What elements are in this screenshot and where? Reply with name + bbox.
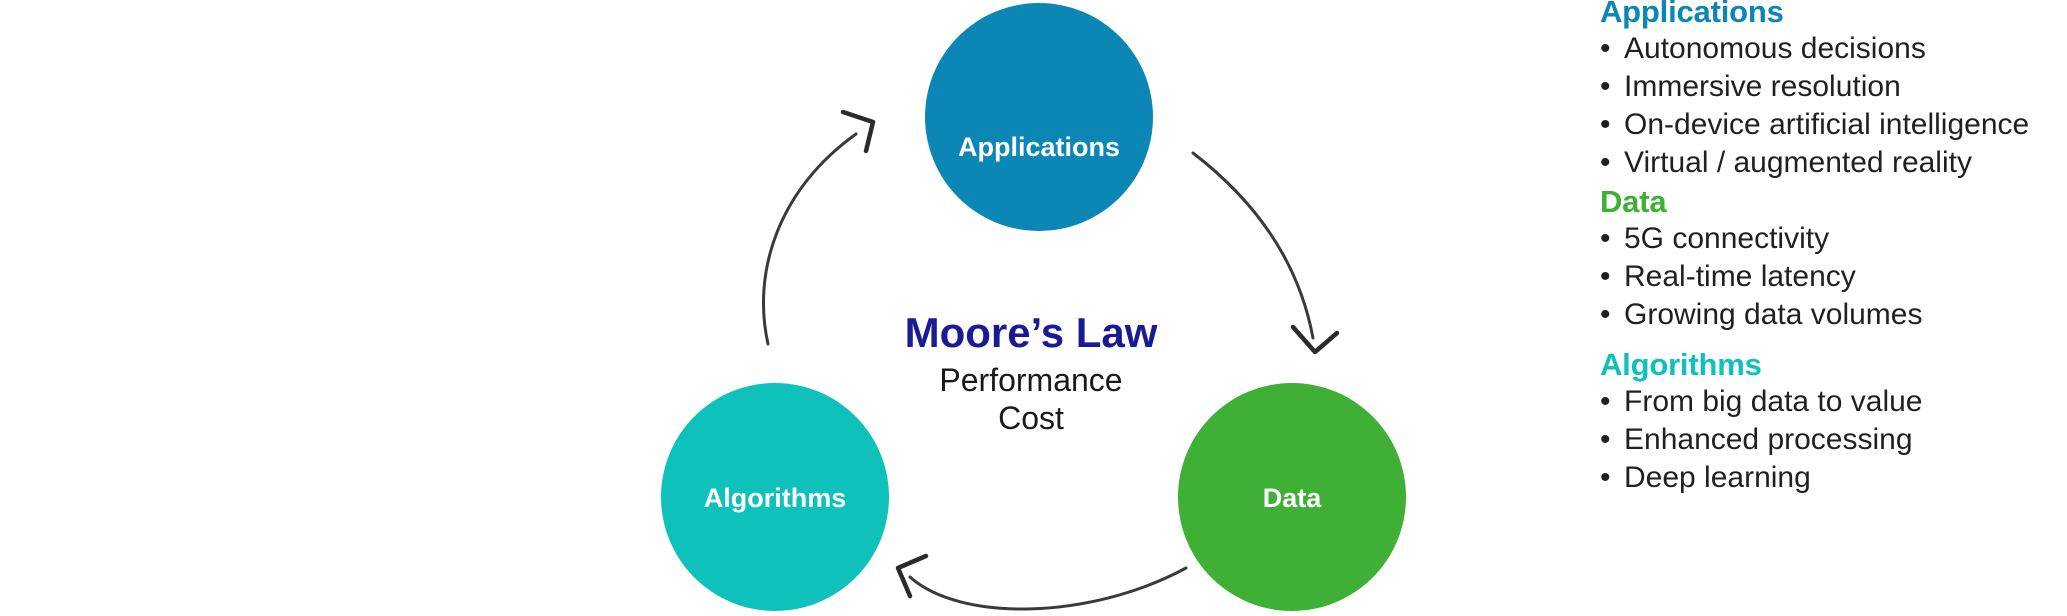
list-item-label: Immersive resolution [1624,70,1901,103]
legend-heading-algorithms: Algorithms [1600,347,2067,383]
list-item: •Growing data volumes [1600,296,2067,334]
list-item: •Autonomous decisions [1600,30,2067,68]
bullet-icon: • [1600,30,1611,68]
bullet-icon: • [1600,459,1611,497]
center-subtitle-line-1: Performance [939,362,1122,398]
node-applications[interactable]: Applications [925,3,1153,231]
node-algorithms-label: Algorithms [704,483,847,513]
bullet-icon: • [1600,258,1611,296]
list-item-label: On-device artificial intelligence [1624,108,2029,141]
node-data-label: Data [1263,483,1323,513]
list-item-label: Real-time latency [1624,260,1856,293]
legend-block-data: Data •5G connectivity •Real-time latency… [1600,184,2067,334]
list-item-label: From big data to value [1624,385,1923,418]
legend-list-algorithms: •From big data to value •Enhanced proces… [1600,383,2067,497]
legend-heading-data: Data [1600,184,2067,220]
bullet-icon: • [1600,106,1611,144]
bullet-icon: • [1600,144,1611,182]
list-item: •Deep learning [1600,459,2067,497]
moores-law-cycle-diagram: Applications Data Algorithms Moore’s Law… [0,0,1600,616]
bullet-icon: • [1600,421,1611,459]
legend-list-data: •5G connectivity •Real-time latency •Gro… [1600,220,2067,334]
legend-panel: Applications •Autonomous decisions •Imme… [1600,0,2067,616]
list-item-label: Autonomous decisions [1624,32,1926,65]
center-caption: Moore’s Law Performance Cost [905,309,1158,436]
bullet-icon: • [1600,383,1611,421]
arrow-arc [1193,153,1313,338]
legend-heading-applications: Applications [1600,0,2067,30]
arrow-arc [763,134,856,344]
diagram-canvas: Applications Data Algorithms Moore’s Law… [0,0,2067,616]
bullet-icon: • [1600,220,1611,258]
list-item-label: Deep learning [1624,461,1811,494]
list-item: •Immersive resolution [1600,68,2067,106]
arrow-head-icon [843,112,873,151]
list-item: •Real-time latency [1600,258,2067,296]
node-applications-label: Applications [958,132,1120,162]
node-data[interactable]: Data [1178,383,1406,611]
node-algorithms[interactable]: Algorithms [661,383,889,611]
center-title: Moore’s Law [905,309,1158,356]
list-item: •On-device artificial intelligence [1600,106,2067,144]
node-applications-circle[interactable] [925,3,1153,231]
list-item: •Virtual / augmented reality [1600,144,2067,182]
list-item-label: Virtual / augmented reality [1624,146,1972,179]
arrow-arc [910,568,1186,609]
arrow-algorithms-to-applications [763,112,873,344]
list-item-label: Enhanced processing [1624,423,1913,456]
list-item: •Enhanced processing [1600,421,2067,459]
bullet-icon: • [1600,296,1611,334]
arrow-head-icon [898,556,926,596]
list-item-label: Growing data volumes [1624,298,1922,331]
arrow-applications-to-data [1193,153,1337,352]
legend-block-applications: Applications •Autonomous decisions •Imme… [1600,0,2067,182]
arrow-data-to-algorithms [898,556,1186,609]
arrow-head-icon [1293,327,1337,352]
list-item-label: 5G connectivity [1624,222,1829,255]
legend-list-applications: •Autonomous decisions •Immersive resolut… [1600,30,2067,182]
list-item: •5G connectivity [1600,220,2067,258]
list-item: •From big data to value [1600,383,2067,421]
bullet-icon: • [1600,68,1611,106]
center-subtitle-line-2: Cost [998,400,1064,436]
legend-block-algorithms: Algorithms •From big data to value •Enha… [1600,347,2067,497]
